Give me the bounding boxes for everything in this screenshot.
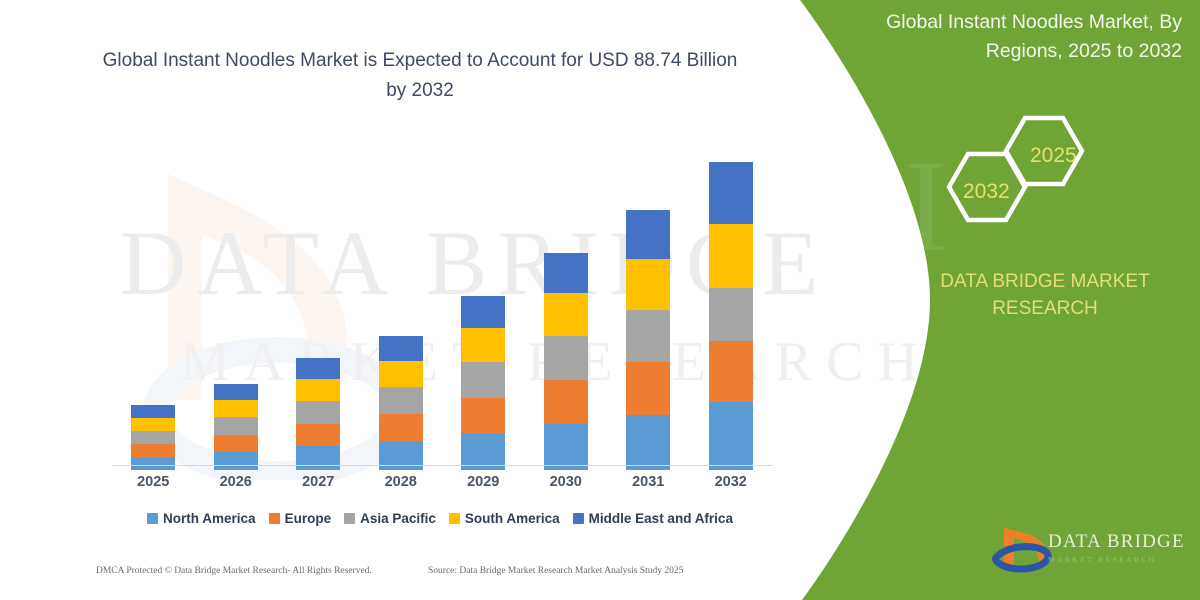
footer: DMCA Protected © Data Bridge Market Rese… — [0, 566, 800, 586]
segment-middle-east-and-africa-2031 — [626, 210, 670, 259]
bar-2026[interactable] — [214, 384, 258, 470]
x-label-2029: 2029 — [443, 474, 523, 490]
segment-north-america-2025 — [131, 457, 175, 470]
data-bridge-logo-text: DATA BRIDGE MARKET RESEARCH — [1048, 531, 1185, 564]
logo-subtitle: MARKET RESEARCH — [1048, 555, 1185, 564]
legend-item-europe[interactable]: Europe — [269, 511, 332, 526]
legend-swatch-icon — [573, 513, 584, 524]
segment-asia-pacific-2026 — [214, 417, 258, 434]
legend-item-middle-east-and-africa[interactable]: Middle East and Africa — [573, 511, 733, 526]
logo-title: DATA BRIDGE — [1048, 531, 1185, 553]
segment-europe-2029 — [461, 398, 505, 433]
segment-south-america-2026 — [214, 400, 258, 417]
segment-europe-2025 — [131, 444, 175, 457]
bar-2030[interactable] — [544, 253, 588, 470]
x-label-2025: 2025 — [113, 474, 193, 490]
x-label-2030: 2030 — [526, 474, 606, 490]
company-name: DATA BRIDGE MARKET RESEARCH — [905, 268, 1185, 322]
segment-south-america-2032 — [709, 224, 753, 288]
segment-asia-pacific-2029 — [461, 362, 505, 397]
footer-copyright: DMCA Protected © Data Bridge Market Rese… — [96, 566, 372, 576]
segment-europe-2027 — [296, 424, 340, 447]
bar-2031[interactable] — [626, 210, 670, 470]
chart-title: Global Instant Noodles Market is Expecte… — [90, 46, 750, 106]
x-label-2026: 2026 — [196, 474, 276, 490]
legend-item-asia-pacific[interactable]: Asia Pacific — [344, 511, 436, 526]
bar-2027[interactable] — [296, 358, 340, 470]
segment-europe-2031 — [626, 362, 670, 415]
legend-item-north-america[interactable]: North America — [147, 511, 256, 526]
segment-europe-2028 — [379, 414, 423, 441]
hexagon-2025-label: 2025 — [1030, 144, 1077, 168]
segment-south-america-2031 — [626, 259, 670, 310]
legend-swatch-icon — [147, 513, 158, 524]
bar-2032[interactable] — [709, 162, 753, 470]
segment-asia-pacific-2027 — [296, 401, 340, 424]
segment-south-america-2028 — [379, 361, 423, 387]
segment-asia-pacific-2032 — [709, 288, 753, 341]
segment-south-america-2027 — [296, 379, 340, 401]
svg-text:E: E — [816, 388, 872, 490]
segment-south-america-2029 — [461, 328, 505, 362]
svg-text:RI: RI — [816, 132, 948, 279]
legend-label: Europe — [285, 511, 332, 526]
segment-middle-east-and-africa-2025 — [131, 405, 175, 418]
x-label-2032: 2032 — [691, 474, 771, 490]
segment-asia-pacific-2030 — [544, 336, 588, 380]
segment-europe-2026 — [214, 435, 258, 452]
segment-middle-east-and-africa-2027 — [296, 358, 340, 379]
green-panel-title: Global Instant Noodles Market, By Region… — [852, 8, 1182, 66]
x-axis-labels: 20252026202720282029203020312032 — [112, 474, 772, 500]
segment-asia-pacific-2031 — [626, 310, 670, 362]
segment-middle-east-and-africa-2030 — [544, 253, 588, 293]
segment-north-america-2031 — [626, 415, 670, 470]
segment-europe-2030 — [544, 380, 588, 424]
legend-label: South America — [465, 511, 560, 526]
segment-europe-2032 — [709, 341, 753, 403]
segment-middle-east-and-africa-2026 — [214, 384, 258, 401]
bar-2028[interactable] — [379, 336, 423, 470]
legend-label: Middle East and Africa — [589, 511, 733, 526]
x-label-2031: 2031 — [608, 474, 688, 490]
x-label-2027: 2027 — [278, 474, 358, 490]
segment-north-america-2027 — [296, 446, 340, 470]
segment-south-america-2025 — [131, 418, 175, 431]
segment-asia-pacific-2028 — [379, 387, 423, 414]
segment-north-america-2030 — [544, 424, 588, 470]
segment-middle-east-and-africa-2028 — [379, 336, 423, 361]
legend-swatch-icon — [449, 513, 460, 524]
segment-asia-pacific-2025 — [131, 431, 175, 444]
segment-north-america-2026 — [214, 452, 258, 470]
legend-swatch-icon — [344, 513, 355, 524]
hexagon-2032-label: 2032 — [963, 180, 1010, 204]
hexagon-shapes — [930, 108, 1120, 228]
legend-item-south-america[interactable]: South America — [449, 511, 560, 526]
x-axis-line — [112, 465, 772, 466]
bar-2029[interactable] — [461, 296, 505, 470]
legend-label: North America — [163, 511, 256, 526]
segment-middle-east-and-africa-2029 — [461, 296, 505, 328]
segment-middle-east-and-africa-2032 — [709, 162, 753, 225]
chart-legend: North AmericaEuropeAsia PacificSouth Ame… — [100, 511, 780, 526]
x-label-2028: 2028 — [361, 474, 441, 490]
hexagon-badges: 2025 2032 — [930, 108, 1120, 228]
chart-plot-area — [112, 140, 772, 470]
bar-2025[interactable] — [131, 405, 175, 470]
legend-label: Asia Pacific — [360, 511, 436, 526]
legend-swatch-icon — [269, 513, 280, 524]
infographic-root: DATA BRIDGE MARKET RESEARCH Global Insta… — [0, 0, 1200, 600]
segment-south-america-2030 — [544, 293, 588, 336]
footer-source: Source: Data Bridge Market Research Mark… — [428, 566, 683, 576]
segment-north-america-2032 — [709, 402, 753, 469]
